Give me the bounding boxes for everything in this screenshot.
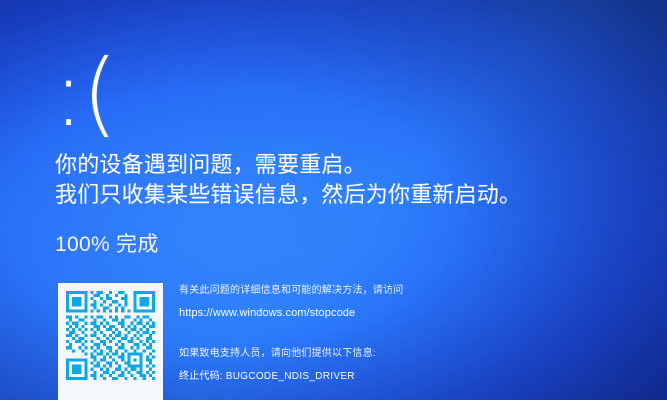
details-column: 有关此问题的详细信息和可能的解决方法，请访问 https://www.windo… bbox=[179, 283, 667, 384]
progress-text: 100% 完成 bbox=[55, 231, 159, 259]
bsod-screen: :( 你的设备遇到问题，需要重启。 我们只收集某些错误信息，然后为你重新启动。 … bbox=[0, 0, 667, 400]
stopcode-line: 终止代码: BUGCODE_NDIS_DRIVER bbox=[179, 370, 667, 384]
qr-code-icon bbox=[66, 291, 155, 380]
more-info-text: 有关此问题的详细信息和可能的解决方法，请访问 bbox=[179, 284, 667, 298]
stopcode-url[interactable]: https://www.windows.com/stopcode bbox=[179, 306, 667, 321]
sad-face-icon: :( bbox=[53, 48, 116, 140]
details-spacer bbox=[179, 321, 667, 347]
error-message-line-1: 你的设备遇到问题，需要重启。 bbox=[55, 150, 615, 180]
qr-card bbox=[58, 283, 163, 400]
stopcode-value: BUGCODE_NDIS_DRIVER bbox=[226, 371, 355, 382]
bottom-section: 有关此问题的详细信息和可能的解决方法，请访问 https://www.windo… bbox=[58, 283, 667, 400]
support-text: 如果致电支持人员，请向他们提供以下信息: bbox=[179, 347, 667, 361]
stopcode-label: 终止代码: bbox=[179, 371, 223, 382]
error-message: 你的设备遇到问题，需要重启。 我们只收集某些错误信息，然后为你重新启动。 bbox=[55, 150, 615, 210]
error-message-line-2: 我们只收集某些错误信息，然后为你重新启动。 bbox=[55, 180, 615, 210]
